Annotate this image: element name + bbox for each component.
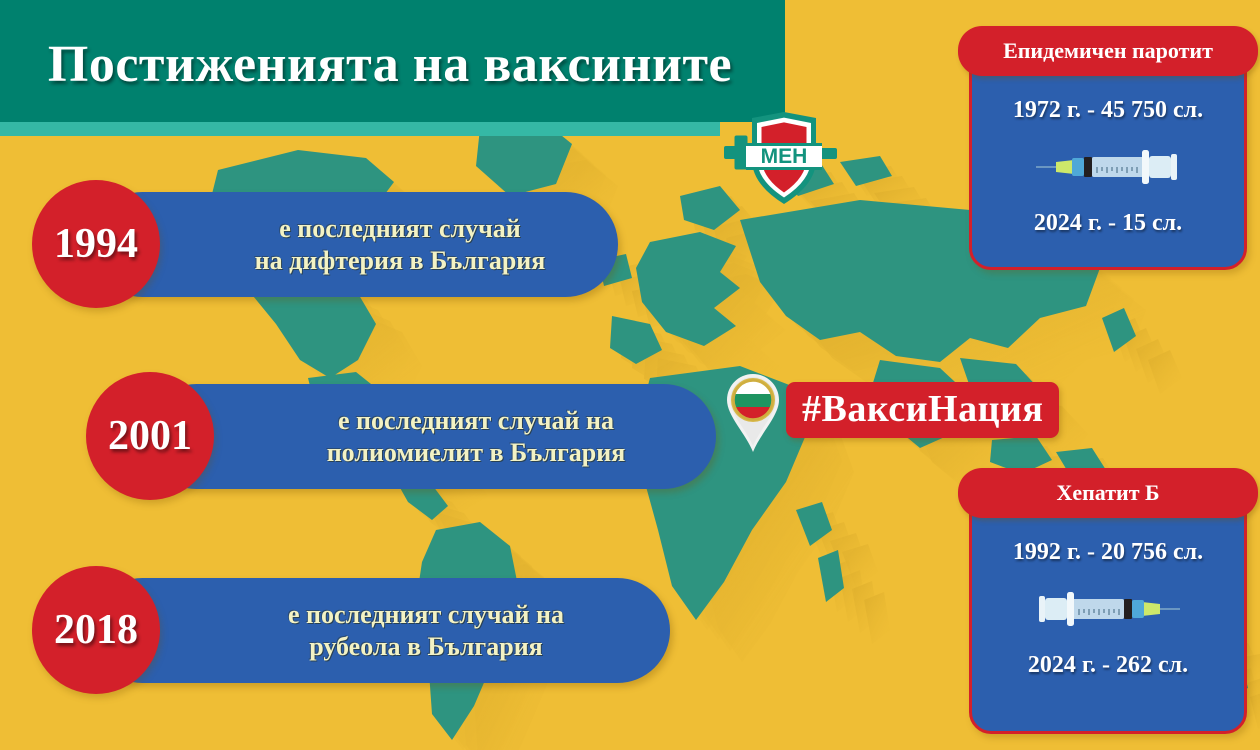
milestone-text: е последният случай на полиомиелит в Бъл… <box>262 405 690 468</box>
bulgaria-flag-map-pin-icon <box>722 372 784 454</box>
milestone-year-badge: 2018 <box>32 566 160 694</box>
infographic-canvas: Постиженията на ваксините МЕН е п <box>0 0 1260 750</box>
logo-text: МЕН <box>761 145 808 168</box>
stat-panel-body: 1972 г. - 45 750 сл. <box>969 68 1247 270</box>
stat-panel-body: 1992 г. - 20 756 сл. <box>969 510 1247 734</box>
stat-line-after: 2024 г. - 15 сл. <box>1034 210 1182 237</box>
medical-shield-logo: МЕН <box>716 112 841 212</box>
milestone-pill: е последният случай на полиомиелит в Бъл… <box>144 384 716 489</box>
stat-line-before: 1972 г. - 45 750 сл. <box>1013 97 1203 124</box>
stat-panel-mumps: Епидемичен паротит 1972 г. - 45 750 сл. <box>958 26 1258 270</box>
syringe-icon <box>1034 588 1182 630</box>
syringe-icon <box>1034 146 1182 188</box>
hashtag-banner: #ВаксиНация <box>786 382 1059 438</box>
stat-panel-title: Епидемичен паротит <box>958 26 1258 76</box>
milestone-year-badge: 1994 <box>32 180 160 308</box>
stat-line-before: 1992 г. - 20 756 сл. <box>1013 539 1203 566</box>
page-title: Постиженията на ваксините <box>0 16 780 112</box>
milestone-pill: е последният случай на рубеола в Българи… <box>90 578 670 683</box>
stat-line-after: 2024 г. - 262 сл. <box>1028 652 1188 679</box>
stat-panel-title: Хепатит Б <box>958 468 1258 518</box>
milestone-text: е последният случай на рубеола в Българи… <box>208 599 644 662</box>
milestone-text: е последният случай на дифтерия в Българ… <box>208 213 592 276</box>
header-accent-stripe <box>0 122 720 136</box>
stat-panel-hepatitis-b: Хепатит Б 1992 г. - 20 756 сл. <box>958 468 1258 734</box>
milestone-year-badge: 2001 <box>86 372 214 500</box>
milestone-pill: е последният случай на дифтерия в Българ… <box>90 192 618 297</box>
